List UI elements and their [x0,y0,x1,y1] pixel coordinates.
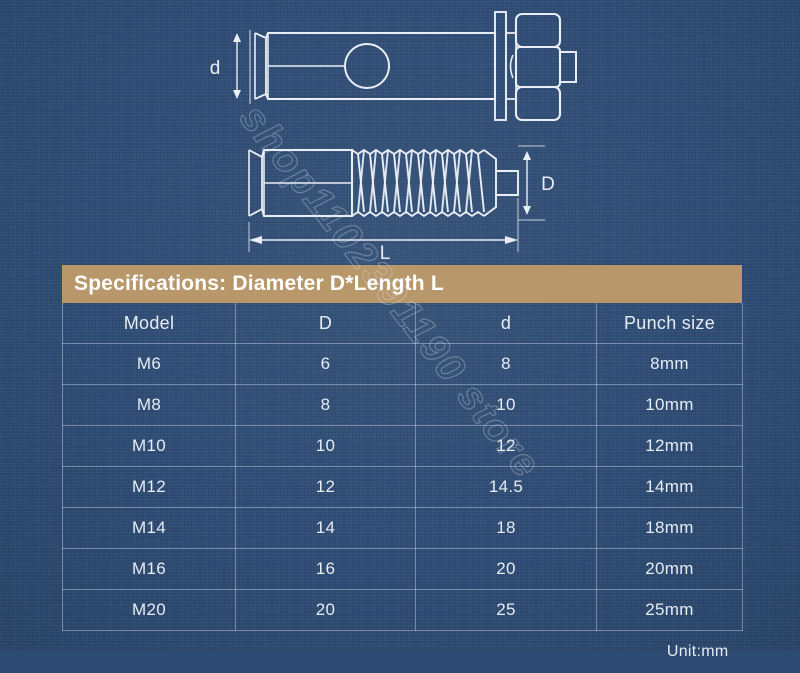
cell-punch-size: 20mm [597,549,743,590]
cell-D: 10 [236,426,416,467]
technical-drawing: d D L [0,0,800,262]
cell-model: M12 [63,467,236,508]
spec-header-bar: Specifications: Diameter D*Length L [62,265,742,303]
unit-note: Unit:mm [63,631,743,673]
dimension-d [233,30,250,104]
cell-d: 10 [416,385,597,426]
cell-punch-size: 12mm [597,426,743,467]
cell-d: 8 [416,344,597,385]
dimension-label-d: d [210,58,221,79]
table-row: M12 12 14.5 14mm [63,467,743,508]
cell-model: M16 [63,549,236,590]
spec-header-title: Specifications: Diameter D*Length L [74,272,444,296]
table-row: M14 14 18 18mm [63,508,743,549]
cell-model: M14 [63,508,236,549]
specifications-table-block: Specifications: Diameter D*Length L Mode… [62,265,742,673]
cell-d: 12 [416,426,597,467]
table-row: M6 6 8 8mm [63,344,743,385]
cell-punch-size: 8mm [597,344,743,385]
table-row: M20 20 25 25mm [63,590,743,631]
cell-D: 12 [236,467,416,508]
cell-punch-size: 25mm [597,590,743,631]
table-header-row: Model D d Punch size [63,303,743,344]
cell-d: 20 [416,549,597,590]
cell-D: 16 [236,549,416,590]
cell-D: 14 [236,508,416,549]
cell-model: M20 [63,590,236,631]
table-row: M16 16 20 20mm [63,549,743,590]
table-unit-row: Unit:mm [63,631,743,673]
cell-d: 25 [416,590,597,631]
cell-d: 18 [416,508,597,549]
upper-assembly-drawing [255,12,576,120]
cell-punch-size: 10mm [597,385,743,426]
column-header-D: D [236,303,416,344]
lower-threaded-drawing [249,150,518,216]
cell-D: 20 [236,590,416,631]
table-row: M10 10 12 12mm [63,426,743,467]
column-header-punch-size: Punch size [597,303,743,344]
specifications-table: Model D d Punch size M6 6 8 8mm M8 8 10 … [62,303,743,673]
dimension-label-D: D [541,174,555,195]
cell-model: M6 [63,344,236,385]
table-row: M8 8 10 10mm [63,385,743,426]
cell-D: 8 [236,385,416,426]
column-header-d: d [416,303,597,344]
cell-model: M8 [63,385,236,426]
cell-punch-size: 18mm [597,508,743,549]
cell-d: 14.5 [416,467,597,508]
cell-D: 6 [236,344,416,385]
cell-model: M10 [63,426,236,467]
dimension-label-L: L [380,243,391,262]
column-header-model: Model [63,303,236,344]
cell-punch-size: 14mm [597,467,743,508]
